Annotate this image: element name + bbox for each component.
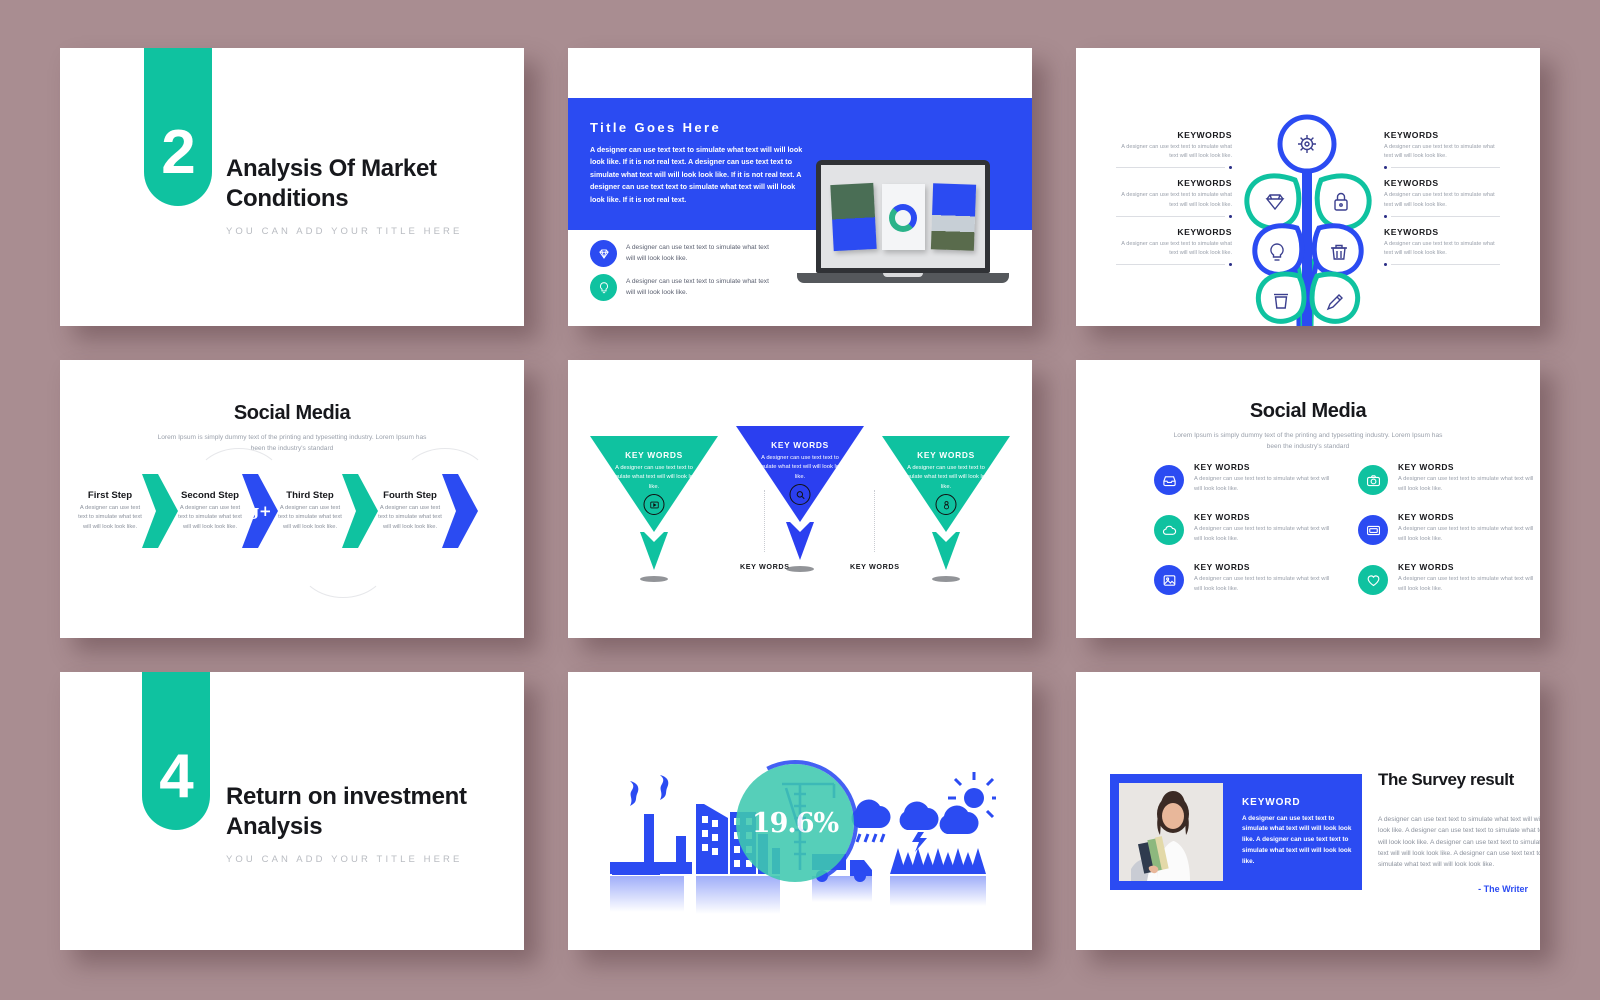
percentage-donut: 19.6% [736,764,854,882]
cell-heading: KEY WORDS [1398,512,1538,522]
step-desc: A designer can use text text to simulate… [78,504,142,532]
funnel-3-text: A designer can use text text to simulate… [882,464,1010,492]
laptop-lid [816,160,990,273]
keyword-text: A designer can use text text to simulate… [1116,240,1232,258]
keyword-heading: KEYWORDS [1384,178,1500,188]
card-text: A designer can use text text to simulate… [1242,814,1358,868]
cloud-icon [1154,515,1184,545]
keyword-heading: KEYWORDS [1384,130,1500,140]
keyword-text: A designer can use text text to simulate… [1116,191,1232,209]
card-keyword: KEYWORD [1242,797,1358,808]
feature-bullet-1: A designer can use text text to simulate… [590,240,778,267]
section-body: Return on investment Analysis YOU CAN AD… [226,782,488,865]
keyword-text: A designer can use text text to simulate… [1384,191,1500,209]
keyword-rule [1116,166,1232,169]
funnel-2-stem [736,522,864,566]
cell-text: A designer can use text text to simulate… [1194,575,1334,595]
survey-body: A designer can use text text to simulate… [1378,814,1540,871]
bullet-dot-icon [1384,166,1387,169]
process-steps: First Step A designer can use text text … [78,474,478,548]
funnel-2[interactable]: KEY WORDS A designer can use text text t… [736,426,864,566]
cell-heading: KEY WORDS [1194,462,1334,472]
slide-section-roi[interactable]: 4 Return on investment Analysis YOU CAN … [60,672,524,950]
survey-card-text: KEYWORD A designer can use text text to … [1232,797,1358,868]
keyword-heading: KEYWORDS [1116,227,1232,237]
page-subtitle: YOU CAN ADD YOUR TITLE HERE [226,854,488,865]
cell-text: A designer can use text text to simulate… [1194,525,1334,545]
keyword-rule [1384,166,1500,169]
cell-heading: KEY WORDS [1398,562,1538,572]
page-title: Return on investment Analysis [226,782,488,842]
icon-cell-4[interactable]: KEY WORDS A designer can use text text t… [1358,512,1538,545]
cell-text: A designer can use text text to simulate… [1194,475,1334,495]
laptop-mockup [816,160,1009,283]
cell-heading: KEY WORDS [1194,512,1334,522]
feature-bullet-2-text: A designer can use text text to simulate… [626,277,778,299]
icon-cell-2[interactable]: KEY WORDS A designer can use text text t… [1358,462,1538,495]
step-3-arrow[interactable] [342,474,378,548]
slide-survey-result[interactable]: KEYWORD A designer can use text text to … [1076,672,1540,950]
section-number: 2 [161,122,194,206]
tree-keyword-left-1: KEYWORDS A designer can use text text to… [1116,130,1232,169]
page-title: The Survey result [1378,770,1528,790]
keyword-text: A designer can use text text to simulate… [1116,143,1232,161]
slide-section-analysis[interactable]: 2 Analysis Of Market Conditions YOU CAN … [60,48,524,326]
funnel-1-heading: KEY WORDS [590,450,718,460]
percentage-value: 19.6% [752,808,838,839]
section-number-pill: 4 [142,672,210,830]
keyword-text: A designer can use text text to simulate… [1384,240,1500,258]
screen-icon [1358,515,1388,545]
tree-leaf-top [1280,117,1334,171]
slide-deck-grid: 2 Analysis Of Market Conditions YOU CAN … [0,0,1600,1000]
user-icon [936,494,957,515]
tree-leaf-r1 [1317,176,1369,228]
keyword-heading: KEYWORDS [1116,178,1232,188]
tree-keyword-right-2: KEYWORDS A designer can use text text to… [1384,178,1500,217]
avatar-photo [1119,783,1223,881]
lightbulb-icon [590,274,617,301]
laptop-screen [821,165,985,268]
keyword-rule [1116,215,1232,218]
funnel-2-heading: KEY WORDS [736,440,864,450]
step-4-arrow[interactable] [442,474,478,548]
tree-keyword-left-2: KEYWORDS A designer can use text text to… [1116,178,1232,217]
weather-group [852,772,996,852]
page-subtitle: YOU CAN ADD YOUR TITLE HERE [226,226,476,237]
cell-heading: KEY WORDS [1194,562,1334,572]
funnel-1-stem [590,532,718,576]
bullet-dot-icon [1229,263,1232,266]
funnel-3-stem [882,532,1010,576]
section-body: Analysis Of Market Conditions YOU CAN AD… [226,154,476,237]
page-title: Social Media [1076,400,1540,423]
mockup-cover-3 [930,183,975,250]
slide-funnel-keywords[interactable]: KEY WORDS A designer can use text text t… [568,360,1032,638]
section-number: 4 [159,746,192,830]
page-subtitle: Lorem Ipsum is simply dummy text of the … [1076,430,1540,452]
cell-text: A designer can use text text to simulate… [1398,575,1538,595]
funnel-dotline-2 [874,490,875,552]
tree-leaf-l1 [1247,176,1299,228]
diamond-icon [590,240,617,267]
tree-leaf-l3 [1258,274,1304,321]
factory-group [610,775,692,875]
icon-cell-5[interactable]: KEY WORDS A designer can use text text t… [1154,562,1334,595]
funnel-1-shadow [640,576,668,582]
icon-cell-6[interactable]: KEY WORDS A designer can use text text t… [1358,562,1538,595]
step-desc: A designer can use text text to simulate… [378,504,442,532]
funnel-3-heading: KEY WORDS [882,450,1010,460]
step-2-text: Second Step A designer can use text text… [178,490,242,532]
survey-card: KEYWORD A designer can use text text to … [1110,774,1362,890]
keyword-rule [1116,263,1232,266]
step-desc: A designer can use text text to simulate… [278,504,342,532]
woman-with-book-illustration [1119,783,1223,881]
mockup-cover-1 [830,182,876,250]
googleplus-icon: g+ [248,502,271,520]
tree-leaf-r3 [1312,274,1358,321]
page-title: Social Media [60,402,524,425]
keyword-heading: KEYWORDS [1384,227,1500,237]
inbox-icon [1154,465,1184,495]
slide-city-percentage[interactable]: 19.6% [568,672,1032,950]
cell-heading: KEY WORDS [1398,462,1538,472]
slide-social-media-steps[interactable]: Social Media Lorem Ipsum is simply dummy… [60,360,524,638]
step-1-text: First Step A designer can use text text … [78,490,142,532]
tree-row [890,848,986,874]
slide-title-goes-here[interactable]: Title Goes Here A designer can use text … [568,48,1032,326]
funnel-1[interactable]: KEY WORDS A designer can use text text t… [590,436,718,576]
bullet-dot-icon [1229,166,1232,169]
image-icon [1154,565,1184,595]
slide-keyword-tree[interactable]: KEYWORDS A designer can use text text to… [1076,48,1540,326]
laptop-base [797,273,1009,283]
tree-keyword-right-1: KEYWORDS A designer can use text text to… [1384,130,1500,169]
feature-bullet-1-text: A designer can use text text to simulate… [626,243,778,265]
tree-left-column: KEYWORDS A designer can use text text to… [1116,130,1232,275]
donut-ring-graphic [889,204,917,232]
tree-keyword-left-3: KEYWORDS A designer can use text text to… [1116,227,1232,266]
step-4-text: Fourth Step A designer can use text text… [378,490,442,532]
icon-cell-3[interactable]: KEY WORDS A designer can use text text t… [1154,512,1334,545]
funnel-2-text: A designer can use text text to simulate… [736,454,864,482]
step-3-text: Third Step A designer can use text text … [278,490,342,532]
icon-grid: KEY WORDS A designer can use text text t… [1154,462,1538,595]
step-title: First Step [78,490,142,501]
page-title: Analysis Of Market Conditions [226,154,476,214]
step-title: Fourth Step [378,490,442,501]
keyword-rule [1384,215,1500,218]
tree-leaf-r2 [1314,226,1361,274]
step-2-arrow[interactable]: g+ [242,474,278,548]
keyword-heading: KEYWORDS [1116,130,1232,140]
slide-social-media-icons[interactable]: Social Media Lorem Ipsum is simply dummy… [1076,360,1540,638]
icon-cell-1[interactable]: KEY WORDS A designer can use text text t… [1154,462,1334,495]
funnel-3[interactable]: KEY WORDS A designer can use text text t… [882,436,1010,576]
funnel-1-text: A designer can use text text to simulate… [590,464,718,492]
funnel-2-shadow [786,566,814,572]
step-title: Second Step [178,490,242,501]
funnel-group: KEY WORDS A designer can use text text t… [568,360,1032,638]
feature-bullet-2: A designer can use text text to simulate… [590,274,778,301]
bullet-dot-icon [1384,215,1387,218]
keyword-text: A designer can use text text to simulate… [1384,143,1500,161]
survey-attribution: - The Writer [1378,884,1528,894]
tree-leaf-l2 [1255,226,1302,274]
search-icon [790,484,811,505]
cell-text: A designer can use text text to simulate… [1398,525,1538,545]
heart-icon [1358,565,1388,595]
tree-keyword-right-3: KEYWORDS A designer can use text text to… [1384,227,1500,266]
step-title: Third Step [278,490,342,501]
camera-icon [1358,465,1388,495]
mockup-cover-2 [882,184,925,250]
bullet-dot-icon [1229,215,1232,218]
band-paragraph: A designer can use text text to simulate… [590,144,804,206]
section-number-pill: 2 [144,48,212,206]
video-icon [644,494,665,515]
funnel-3-shadow [932,576,960,582]
band-title: Title Goes Here [590,120,721,135]
tree-right-column: KEYWORDS A designer can use text text to… [1384,130,1500,275]
tree-graphic [1233,110,1383,326]
step-desc: A designer can use text text to simulate… [178,504,242,532]
bullet-dot-icon [1384,263,1387,266]
cell-text: A designer can use text text to simulate… [1398,475,1538,495]
step-1-arrow[interactable] [142,474,178,548]
keyword-rule [1384,263,1500,266]
